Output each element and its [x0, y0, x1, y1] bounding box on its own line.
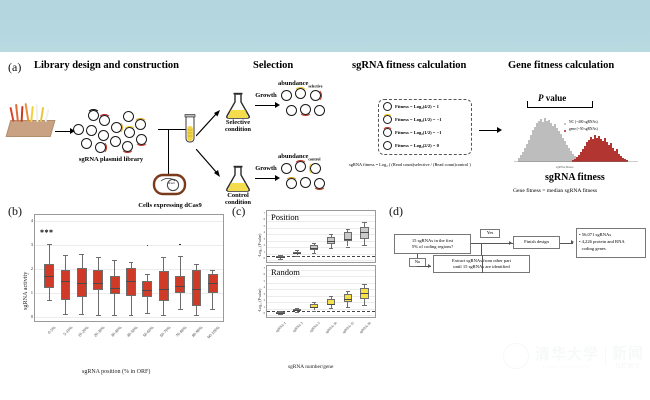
- whisker-cap: [312, 253, 316, 254]
- flow-decision-box: 15 sgRNAs in the first 5% of coding regi…: [394, 234, 471, 254]
- fitness-row-4: Fitness = Log₂(2/2) = 0: [395, 143, 439, 148]
- panel-b-xlabel: sgRNA position (% in ORF): [82, 369, 150, 375]
- fitness-row-3: Fitness = Log₂(1/2) = −1: [395, 130, 442, 135]
- flow-yes-label-box: Yes: [480, 229, 500, 238]
- gridline: [35, 245, 223, 246]
- histogram-xaxis-title: sgRNA fitness: [556, 165, 573, 169]
- median-line: [293, 310, 301, 311]
- median-line: [344, 239, 352, 240]
- y-axis-tick: 7: [259, 267, 265, 270]
- panel-c-xlabel: sgRNA number/gene: [288, 364, 333, 370]
- whisker-cap: [312, 243, 316, 244]
- median-line: [61, 281, 71, 282]
- boxplot-box: [344, 294, 352, 303]
- y-axis-tick: 5: [259, 225, 265, 228]
- whisker-cap: [362, 222, 366, 223]
- whisker-cap: [295, 256, 299, 257]
- median-line: [344, 299, 352, 300]
- gridline: [267, 315, 375, 316]
- gridline: [267, 228, 375, 229]
- outlier-point: [147, 245, 149, 247]
- flow-result-text-1: 56,071 sgRNAs: [582, 232, 611, 237]
- whisker-cap: [329, 296, 333, 297]
- boxplot-box: [344, 232, 352, 241]
- watermark-cn-name: 清华大学: [535, 343, 599, 364]
- whisker-cap: [210, 270, 215, 271]
- section-title-selection: Selection: [253, 60, 293, 71]
- panel-b-significance-marker: ***: [40, 228, 54, 237]
- gridline: [267, 241, 375, 242]
- boxplot-box: [175, 276, 185, 293]
- whisker-cap: [161, 257, 166, 258]
- median-line: [93, 283, 103, 284]
- gridline: [267, 254, 375, 255]
- whisker-cap: [278, 314, 282, 315]
- gridline: [267, 289, 375, 290]
- median-line: [77, 283, 87, 284]
- median-line: [310, 248, 318, 249]
- y-axis-tick: 0: [259, 312, 265, 315]
- dcas9-label: dCas9: [168, 182, 174, 185]
- median-line: [110, 288, 120, 289]
- flow-result-item-2: • 4,226 protein and RNA coding genes: [579, 239, 625, 253]
- median-line: [327, 304, 335, 305]
- whisker-cap: [346, 247, 350, 248]
- top-color-band: [0, 0, 650, 52]
- x-axis-tick: sgRNA-5: [287, 321, 321, 355]
- median-line: [159, 289, 169, 290]
- median-line: [175, 286, 185, 287]
- x-axis-tick: sgRNA-10: [304, 321, 338, 355]
- median-line: [126, 281, 136, 282]
- gridline: [267, 283, 375, 284]
- panel-a-letter: (a): [8, 60, 21, 75]
- x-axis-tick: sgRNA-15: [321, 321, 355, 355]
- whisker-cap: [329, 308, 333, 309]
- whisker-cap: [47, 244, 52, 245]
- whisker-cap: [145, 274, 150, 275]
- panel-c-random-title: Random: [271, 268, 300, 278]
- tsinghua-seal-icon: [503, 343, 529, 369]
- whisker-cap: [329, 248, 333, 249]
- median-line: [276, 313, 284, 314]
- panel-c-letter: (c): [232, 204, 245, 219]
- flow-decision-text: 15 sgRNAs in the first 5% of coding regi…: [412, 238, 453, 250]
- median-line: [44, 276, 54, 277]
- gridline: [35, 221, 223, 222]
- x-axis-tick: 90-100%: [186, 325, 221, 360]
- whisker-cap: [112, 315, 117, 316]
- abundance-selective-sub: selective: [308, 83, 322, 88]
- boxplot-box: [61, 270, 71, 300]
- whisker-cap: [346, 291, 350, 292]
- median-line: [327, 241, 335, 242]
- y-axis-tick: 6: [259, 218, 265, 221]
- median-line: [360, 293, 368, 294]
- watermark-en-name: Tsinghua University: [542, 364, 591, 369]
- whisker-cap: [346, 307, 350, 308]
- section-title-sgrna-fitness: sgRNA fitness calculation: [352, 60, 466, 71]
- legend-dot-nc: [564, 123, 566, 125]
- y-axis-tick: 5: [259, 280, 265, 283]
- boxplot-box: [192, 270, 202, 306]
- whisker-cap: [63, 314, 68, 315]
- histogram-title: sgRNA fitness: [545, 172, 605, 183]
- gridline: [35, 317, 223, 318]
- watermark-divider: [605, 346, 606, 366]
- panel-c-top-ylabel: -Log₁₀ (P value): [258, 234, 262, 257]
- panel-b-ylabel: sgRNA activity: [22, 272, 29, 310]
- selective-condition-caption: Selectivecondition: [216, 119, 260, 134]
- watermark: 清华大学 Tsinghua University 新闻 NEWS: [503, 342, 644, 370]
- abundance-control-text: abundance: [278, 153, 308, 160]
- flow-riser-extract-to-finish: [482, 255, 483, 273]
- y-axis-tick: 0: [26, 314, 33, 319]
- legend-label-gene: gene (~50 sgRNAs): [569, 127, 598, 131]
- section-title-gene-fitness: Gene fitness calculation: [508, 60, 614, 71]
- figure-canvas: (a) Library design and construction Sele…: [0, 52, 650, 400]
- whisker-cap: [79, 314, 84, 315]
- flow-finish-text: Finish design: [524, 239, 549, 245]
- median-line: [192, 289, 202, 290]
- x-axis-tick: sgRNA-20: [337, 321, 371, 355]
- boxplot-box: [142, 281, 152, 298]
- p-value-label: P value: [538, 93, 566, 103]
- gridline: [267, 247, 375, 248]
- gridline: [267, 260, 375, 261]
- watermark-news-cn: 新闻: [612, 342, 644, 363]
- whisker-cap: [346, 229, 350, 230]
- panel-c-position-title: Position: [271, 213, 299, 223]
- x-axis-tick: sgRNA-3: [270, 321, 304, 355]
- panel-c-bottom-ylabel: -Log₁₀ (P value): [258, 289, 262, 312]
- growth-label-control: Growth: [253, 165, 279, 172]
- gene-fitness-formula: Gene fitness = median sgRNA fitness: [513, 188, 597, 194]
- whisker-cap: [194, 315, 199, 316]
- whisker-cap: [312, 311, 316, 312]
- y-axis-tick: 6: [259, 273, 265, 276]
- y-axis-tick: 0: [259, 257, 265, 260]
- sgrna-fitness-formula: sgRNA fitness = Log₂ ( (Read count)selec…: [349, 162, 471, 167]
- whisker-cap: [329, 234, 333, 235]
- y-axis-tick: 2: [26, 266, 33, 271]
- legend-label-nc: NC (~400 sgRNAs): [569, 120, 598, 124]
- whisker-cap: [63, 255, 68, 256]
- median-line: [360, 232, 368, 233]
- whisker-cap: [47, 300, 52, 301]
- panel-d-letter: (d): [389, 204, 403, 219]
- whisker-cap: [362, 305, 366, 306]
- flow-results-box: • 56,071 sgRNAs • 4,226 protein and RNA …: [576, 228, 646, 258]
- growth-label-selective: Growth: [253, 92, 279, 99]
- y-axis-tick: 4: [26, 218, 33, 223]
- whisker-cap: [96, 315, 101, 316]
- watermark-news-en: NEWS: [615, 363, 640, 370]
- whisker-cap: [362, 284, 366, 285]
- section-title-library-design: Library design and construction: [34, 60, 179, 71]
- whisker-cap: [362, 245, 366, 246]
- whisker-cap: [295, 312, 299, 313]
- fitness-row-1: Fitness = Log₂(4/2) = 1: [395, 104, 439, 109]
- flow-no-text: No: [415, 259, 421, 265]
- gridline: [267, 302, 375, 303]
- whisker-cap: [210, 309, 215, 310]
- cells-caption: Cells expressing dCas9: [128, 202, 212, 209]
- median-line: [293, 253, 301, 254]
- flow-result-text-2: 4,226 protein and RNA coding genes: [582, 239, 625, 253]
- median-line: [310, 307, 318, 308]
- gridline: [267, 309, 375, 310]
- flow-yes-text: Yes: [487, 230, 494, 236]
- whisker-cap: [178, 256, 183, 257]
- abundance-selective-text: abundance: [278, 80, 308, 87]
- whisker-cap: [278, 259, 282, 260]
- y-axis-tick: 3: [26, 242, 33, 247]
- whisker-cap: [178, 309, 183, 310]
- panel-b-plot-area: 012340-5%5-10%10-20%20-30%30-40%40-50%50…: [34, 214, 224, 322]
- legend-dot-gene: [564, 130, 566, 132]
- median-line: [208, 283, 218, 284]
- whisker-cap: [145, 313, 150, 314]
- panel-b-letter: (b): [8, 204, 22, 219]
- fitness-row-2: Fitness = Log₂(1/2) = −1: [395, 117, 442, 122]
- whisker-cap: [112, 260, 117, 261]
- whisker-cap: [161, 315, 166, 316]
- whisker-cap: [194, 264, 199, 265]
- flow-result-item-1: • 56,071 sgRNAs: [579, 232, 625, 239]
- median-line: [276, 257, 284, 258]
- whisker-cap: [129, 315, 134, 316]
- whisker-cap: [79, 254, 84, 255]
- y-axis-tick: 7: [259, 212, 265, 215]
- boxplot-box: [159, 271, 169, 301]
- abundance-control-sub: control: [308, 156, 320, 161]
- boxplot-box: [110, 276, 120, 294]
- boxplot-box: [93, 270, 103, 290]
- gridline: [267, 296, 375, 297]
- flow-finish-box: Finish design: [513, 236, 560, 249]
- gridline: [267, 234, 375, 235]
- median-line: [142, 290, 152, 291]
- whisker-cap: [129, 262, 134, 263]
- library-caption: sgRNA plasmid library: [68, 156, 154, 163]
- whisker-cap: [96, 257, 101, 258]
